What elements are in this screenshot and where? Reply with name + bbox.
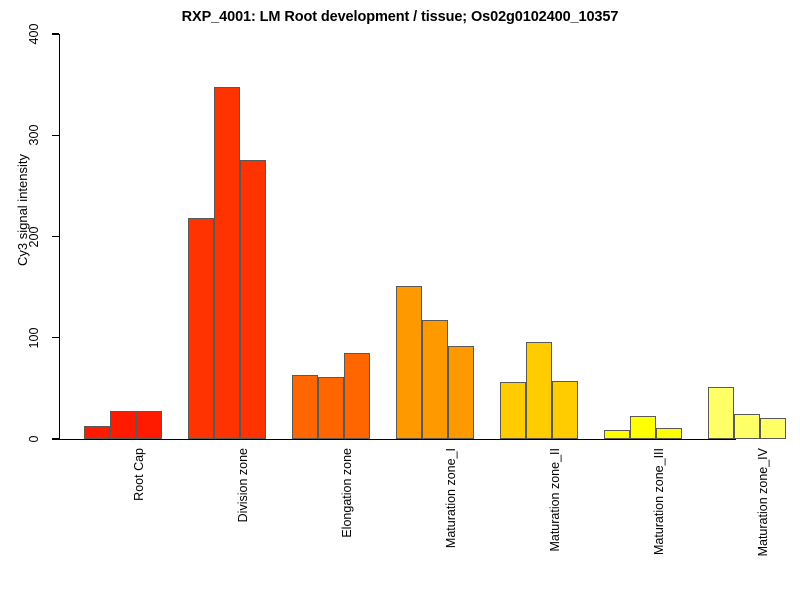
y-axis-tick-label: 300 (27, 115, 41, 155)
x-axis-tick-label: Division zone (235, 448, 251, 588)
bar (292, 375, 318, 439)
x-axis-tick-label: Elongation zone (339, 448, 355, 588)
bar (552, 381, 578, 439)
bar (448, 346, 474, 439)
bar (760, 418, 786, 439)
bar (422, 320, 448, 439)
y-axis-tick-label: 200 (27, 217, 41, 257)
y-axis-line (59, 34, 60, 440)
bar (344, 353, 370, 439)
x-axis-tick-label: Maturation zone_I (443, 448, 459, 588)
bar (396, 286, 422, 439)
bar (630, 416, 656, 439)
bar (188, 218, 214, 439)
x-axis-tick-label: Maturation zone_III (651, 448, 667, 588)
page-title: RXP_4001: LM Root development / tissue; … (0, 9, 800, 25)
x-axis-tick-label: Maturation zone_IV (755, 448, 771, 588)
y-axis-tick (52, 33, 59, 34)
y-axis-tick-label: 100 (27, 318, 41, 358)
bar (656, 428, 682, 439)
y-axis-tick (52, 438, 59, 439)
y-axis-tick (52, 337, 59, 338)
bar (604, 430, 630, 439)
bar (708, 387, 734, 439)
bar (318, 377, 344, 439)
y-axis-tick-label: 400 (27, 14, 41, 54)
bar (136, 411, 162, 439)
plot-area (84, 34, 704, 439)
y-axis-tick (52, 236, 59, 237)
bar-chart: RXP_4001: LM Root development / tissue; … (0, 0, 800, 600)
x-axis-tick-label: Root Cap (131, 448, 147, 588)
bar (526, 342, 552, 439)
bar (214, 87, 240, 439)
bar (500, 382, 526, 439)
bar (734, 414, 760, 439)
y-axis-tick (52, 135, 59, 136)
bar (84, 426, 110, 439)
x-axis-tick-label: Maturation zone_II (547, 448, 563, 588)
bar (240, 160, 266, 439)
bar (110, 411, 136, 439)
y-axis-tick-label: 0 (27, 419, 41, 459)
